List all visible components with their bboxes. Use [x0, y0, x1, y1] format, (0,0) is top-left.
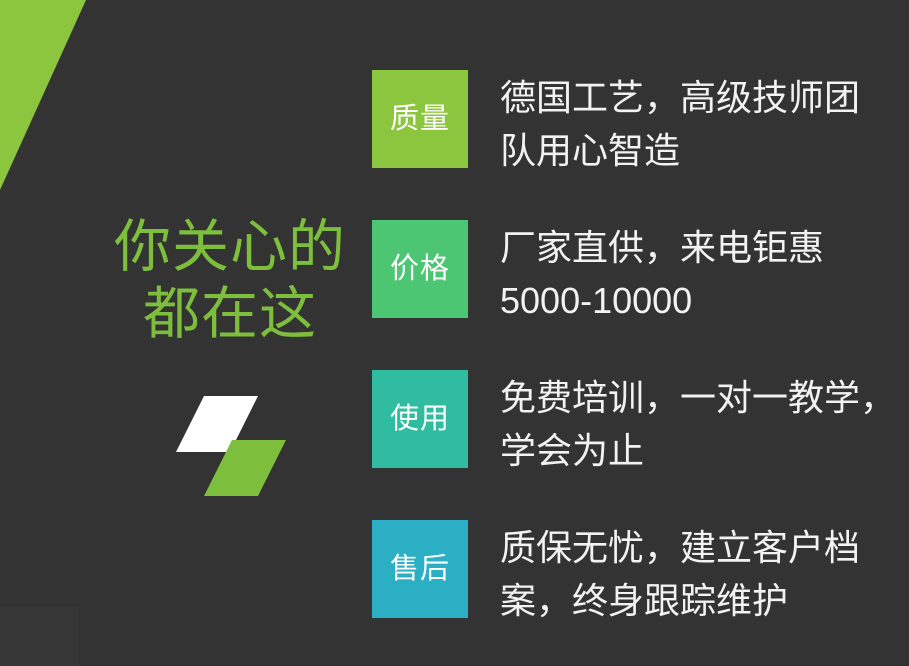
- feature-text-aftersales: 质保无忧，建立客户档 案，终身跟踪维护: [500, 521, 902, 627]
- bottom-left-panel: [0, 607, 78, 666]
- feature-text-quality: 德国工艺，高级技师团 队用心智造: [500, 71, 902, 177]
- feature-badge-aftersales: 售后: [372, 520, 468, 618]
- feature-badge-price: 价格: [372, 220, 468, 318]
- feature-row: 售后 质保无忧，建立客户档 案，终身跟踪维护: [372, 520, 902, 640]
- feature-text-price: 厂家直供，来电钜惠 5000-10000: [500, 221, 902, 327]
- feature-text-usage: 免费培训，一对一教学， 学会为止: [500, 371, 902, 477]
- slide-canvas: 你关心的 都在这 质量 德国工艺，高级技师团 队用心智造 价格 厂家直供，来电钜…: [0, 0, 909, 666]
- corner-wedge-shape: [0, 0, 86, 190]
- corner-wedge-decoration: [0, 0, 100, 195]
- feature-badge-usage: 使用: [372, 370, 468, 468]
- feature-row: 价格 厂家直供，来电钜惠 5000-10000: [372, 220, 902, 370]
- feature-row: 使用 免费培训，一对一教学， 学会为止: [372, 370, 902, 520]
- page-title: 你关心的 都在这: [96, 214, 364, 348]
- feature-list: 质量 德国工艺，高级技师团 队用心智造 价格 厂家直供，来电钜惠 5000-10…: [372, 70, 902, 640]
- feature-badge-quality: 质量: [372, 70, 468, 168]
- brand-logo: [168, 388, 298, 498]
- feature-row: 质量 德国工艺，高级技师团 队用心智造: [372, 70, 902, 220]
